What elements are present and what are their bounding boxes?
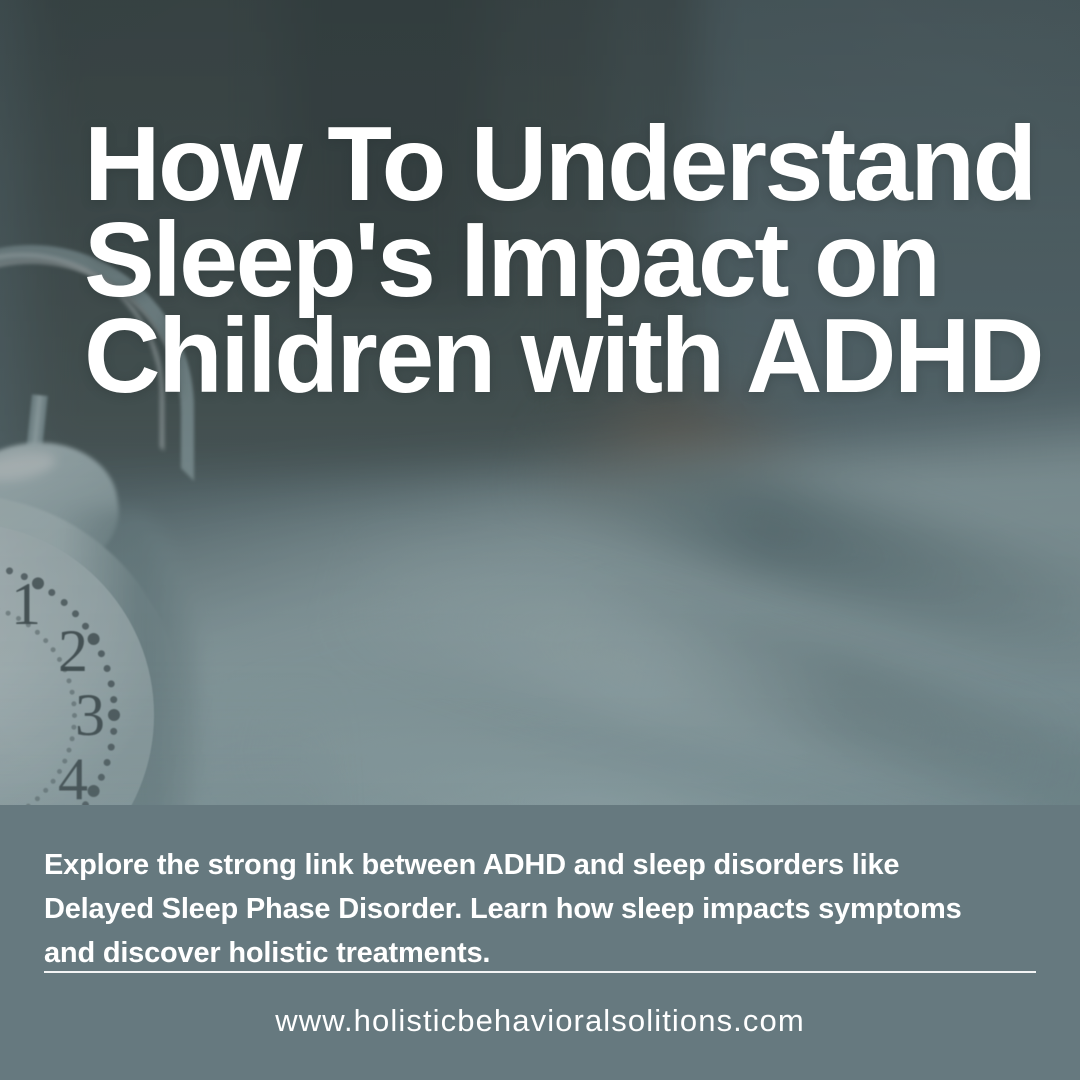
site-url[interactable]: www.holisticbehavioralsolitions.com [0,1003,1080,1039]
page-title: How To Understand Sleep's Impact on Chil… [84,116,1044,404]
caption-panel: Explore the strong link between ADHD and… [0,805,1080,1080]
social-share-card: 12 1 2 3 4 How To Understand Sleep's Imp… [0,0,1080,1080]
description-text: Explore the strong link between ADHD and… [44,843,1004,975]
divider [44,971,1036,973]
